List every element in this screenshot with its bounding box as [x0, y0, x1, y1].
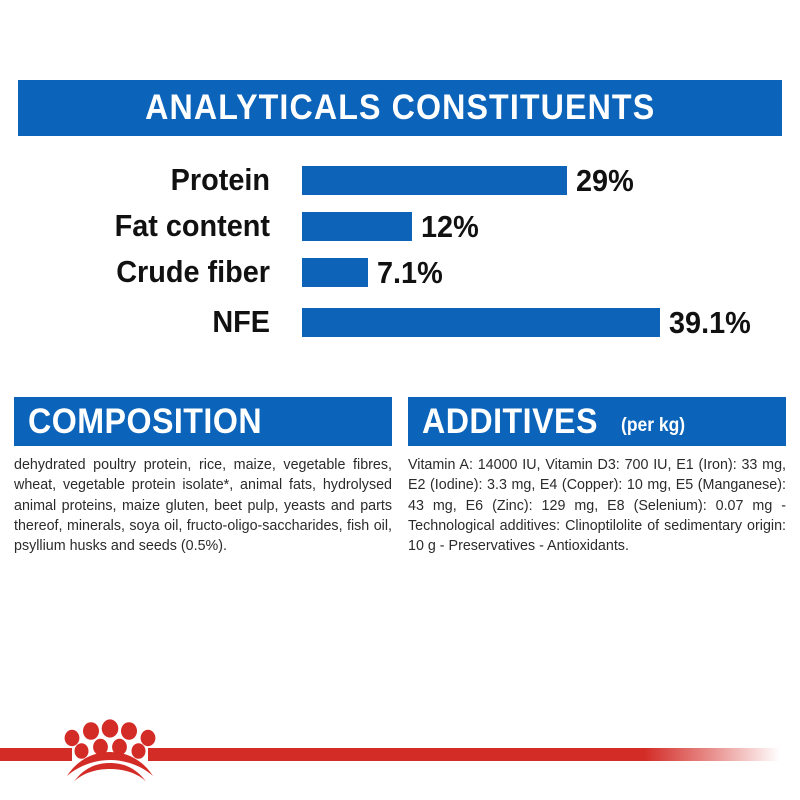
chart-row: Fat content 12% — [0, 205, 800, 249]
product-label-panel: ANALYTICALS CONSTITUENTS Protein 29% Fat… — [0, 0, 800, 800]
bar-value-protein: 29% — [576, 165, 634, 196]
bar-crude-fiber — [302, 258, 368, 287]
bar-value-fat-content: 12% — [421, 211, 479, 242]
page-title: ANALYTICALS CONSTITUENTS — [145, 88, 655, 128]
composition-text: dehydrated poultry protein, rice, maize,… — [14, 455, 392, 556]
additives-panel: ADDITIVES (per kg) Vitamin A: 14000 IU, … — [408, 397, 786, 556]
additives-heading: ADDITIVES — [422, 402, 598, 442]
additives-text: Vitamin A: 14000 IU, Vitamin D3: 700 IU,… — [408, 455, 786, 556]
bar-group-nfe: 39.1% — [302, 308, 757, 337]
bar-protein — [302, 166, 567, 195]
chart-row: NFE 39.1% — [0, 301, 800, 345]
chart-row: Crude fiber 7.1% — [0, 251, 800, 295]
bar-label-fat-content: Fat content — [19, 205, 270, 247]
chart-row: Protein 29% — [0, 159, 800, 203]
bar-fat-content — [302, 212, 412, 241]
additives-header-bar: ADDITIVES (per kg) — [408, 397, 786, 446]
bar-value-nfe: 39.1% — [669, 307, 751, 338]
bar-group-fat-content: 12% — [302, 212, 483, 241]
bar-label-nfe: NFE — [19, 301, 270, 343]
bar-group-crude-fiber: 7.1% — [302, 258, 448, 287]
bar-label-crude-fiber: Crude fiber — [19, 251, 270, 293]
brand-rule-right — [148, 748, 800, 761]
additives-subheading: (per kg) — [621, 415, 685, 437]
composition-panel: COMPOSITION dehydrated poultry protein, … — [14, 397, 392, 556]
analytical-constituents-chart: Protein 29% Fat content 12% Crude fiber … — [0, 155, 800, 355]
analyticals-header-bar: ANALYTICALS CONSTITUENTS — [18, 80, 782, 136]
composition-header-bar: COMPOSITION — [14, 397, 392, 446]
royal-canin-crown-logo-icon — [58, 718, 162, 782]
bar-nfe — [302, 308, 660, 337]
bar-group-protein: 29% — [302, 166, 638, 195]
bar-label-protein: Protein — [19, 159, 270, 201]
composition-heading: COMPOSITION — [28, 402, 262, 442]
bar-value-crude-fiber: 7.1% — [377, 257, 443, 288]
